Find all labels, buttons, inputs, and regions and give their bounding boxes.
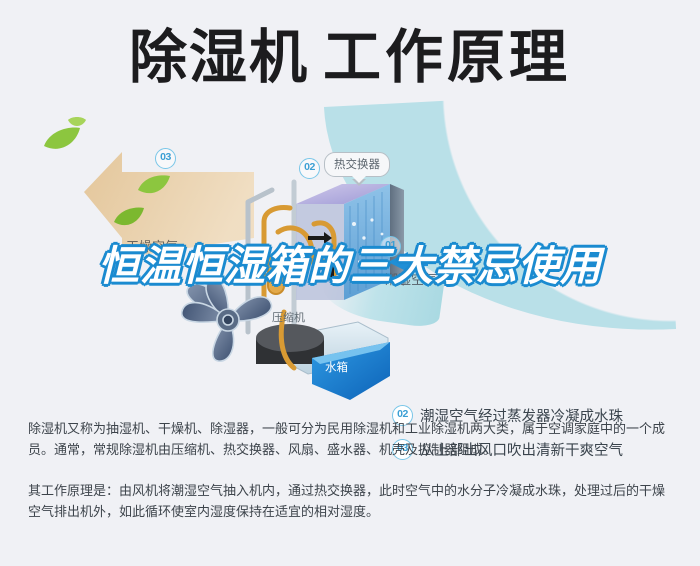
callout-label-humid-air: 潮湿空气 <box>385 269 437 288</box>
leaf-icon-2 <box>134 168 178 206</box>
page-title-part2: 工作原理 <box>323 25 571 90</box>
page-title-part1: 除湿机 <box>129 25 309 90</box>
leaf-icon-3 <box>110 202 150 236</box>
infographic-page: 除湿机工作原理 <box>0 0 700 566</box>
page-title: 除湿机工作原理 <box>129 16 571 100</box>
callout-badge-03: 03 <box>155 148 176 169</box>
callout-badge-01: 01 <box>380 236 401 257</box>
body-paragraph-1: 除湿机又称为抽湿机、干燥机、除湿器，一般可分为民用除湿机和工业除湿机两大类，属于… <box>28 418 676 460</box>
callout-label-dry-air: 干燥空气 <box>126 236 178 255</box>
leaf-icon-group <box>36 116 96 168</box>
fan-icon <box>176 264 280 368</box>
page-header: 除湿机工作原理 <box>0 16 700 100</box>
diagram-stage: 03 干燥空气 02 热交换器 01 潮湿空气 压缩机 水箱 02 潮湿空气经过… <box>0 104 700 410</box>
part-label-water-tank: 水箱 <box>325 359 348 375</box>
heat-exchanger-bubble: 热交换器 <box>324 152 390 177</box>
part-label-compressor: 压缩机 <box>272 309 305 325</box>
callout-badge-02: 02 <box>299 158 320 179</box>
body-paragraph-2: 其工作原理是：由风机将潮湿空气抽入机内，通过热交换器，此时空气中的水分子冷凝成水… <box>28 480 676 522</box>
